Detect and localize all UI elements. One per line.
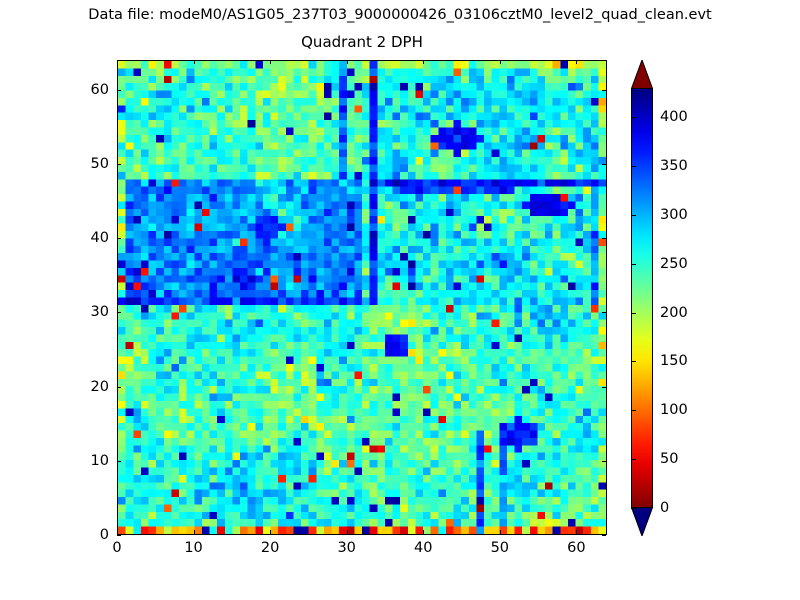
x-tick-mark xyxy=(347,60,348,64)
colorbar-tick-mark xyxy=(631,459,636,460)
y-tick-label: 40 xyxy=(49,230,109,246)
x-tick-mark xyxy=(500,530,501,534)
y-tick-label: 60 xyxy=(49,82,109,98)
y-tick-label: 30 xyxy=(49,304,109,320)
x-tick-mark xyxy=(270,60,271,64)
x-tick-mark xyxy=(576,60,577,64)
y-tick-mark xyxy=(117,164,121,165)
colorbar-gradient xyxy=(631,88,653,508)
detector-pixel-heatmap xyxy=(118,61,606,534)
x-tick-mark xyxy=(194,530,195,534)
y-tick-mark xyxy=(117,461,121,462)
y-tick-label: 0 xyxy=(49,527,109,543)
x-tick-label: 30 xyxy=(317,540,377,556)
y-tick-mark xyxy=(117,535,121,536)
colorbar-tick-label: 250 xyxy=(660,256,688,272)
colorbar-tick-mark xyxy=(631,508,636,509)
colorbar: 050100150200250300350400 xyxy=(631,60,653,536)
x-tick-mark xyxy=(423,60,424,64)
y-tick-mark xyxy=(602,312,606,313)
colorbar-tick-mark xyxy=(631,117,636,118)
colorbar-tick-label: 150 xyxy=(660,353,688,369)
x-tick-mark xyxy=(194,60,195,64)
y-tick-mark xyxy=(117,90,121,91)
colorbar-tick-label: 350 xyxy=(660,158,688,174)
y-tick-mark xyxy=(602,164,606,165)
colorbar-extend-min-arrow-icon xyxy=(631,507,653,536)
y-tick-mark xyxy=(602,461,606,462)
y-tick-label: 20 xyxy=(49,379,109,395)
heatmap-axes xyxy=(117,60,607,535)
x-tick-label: 10 xyxy=(164,540,224,556)
colorbar-tick-label: 100 xyxy=(660,402,688,418)
colorbar-tick-mark xyxy=(631,361,636,362)
x-tick-mark xyxy=(500,60,501,64)
y-tick-mark xyxy=(117,387,121,388)
y-tick-mark xyxy=(602,387,606,388)
x-tick-mark xyxy=(270,530,271,534)
x-tick-label: 50 xyxy=(470,540,530,556)
x-tick-mark xyxy=(576,530,577,534)
x-tick-label: 60 xyxy=(546,540,606,556)
y-tick-label: 10 xyxy=(49,453,109,469)
figure-suptitle: Data file: modeM0/AS1G05_237T03_90000004… xyxy=(0,7,800,24)
y-tick-mark xyxy=(602,238,606,239)
colorbar-tick-label: 200 xyxy=(660,305,688,321)
x-tick-mark xyxy=(117,60,118,64)
y-tick-mark xyxy=(602,90,606,91)
x-tick-mark xyxy=(347,530,348,534)
colorbar-extend-max-arrow-icon xyxy=(631,60,653,89)
figure-canvas: Data file: modeM0/AS1G05_237T03_90000004… xyxy=(0,0,800,600)
y-tick-mark xyxy=(602,535,606,536)
colorbar-tick-mark xyxy=(631,410,636,411)
x-tick-mark xyxy=(423,530,424,534)
colorbar-tick-mark xyxy=(631,264,636,265)
colorbar-tick-mark xyxy=(631,313,636,314)
colorbar-tick-label: 0 xyxy=(660,500,669,516)
colorbar-tick-mark xyxy=(631,215,636,216)
colorbar-tick-mark xyxy=(631,166,636,167)
page-title: Quadrant 2 DPH xyxy=(117,33,607,52)
x-tick-mark xyxy=(117,530,118,534)
x-tick-label: 20 xyxy=(240,540,300,556)
y-tick-mark xyxy=(117,238,121,239)
y-tick-label: 50 xyxy=(49,156,109,172)
colorbar-tick-label: 300 xyxy=(660,207,688,223)
colorbar-tick-label: 50 xyxy=(660,451,678,467)
colorbar-tick-label: 400 xyxy=(660,109,688,125)
y-tick-mark xyxy=(117,312,121,313)
x-tick-label: 40 xyxy=(393,540,453,556)
